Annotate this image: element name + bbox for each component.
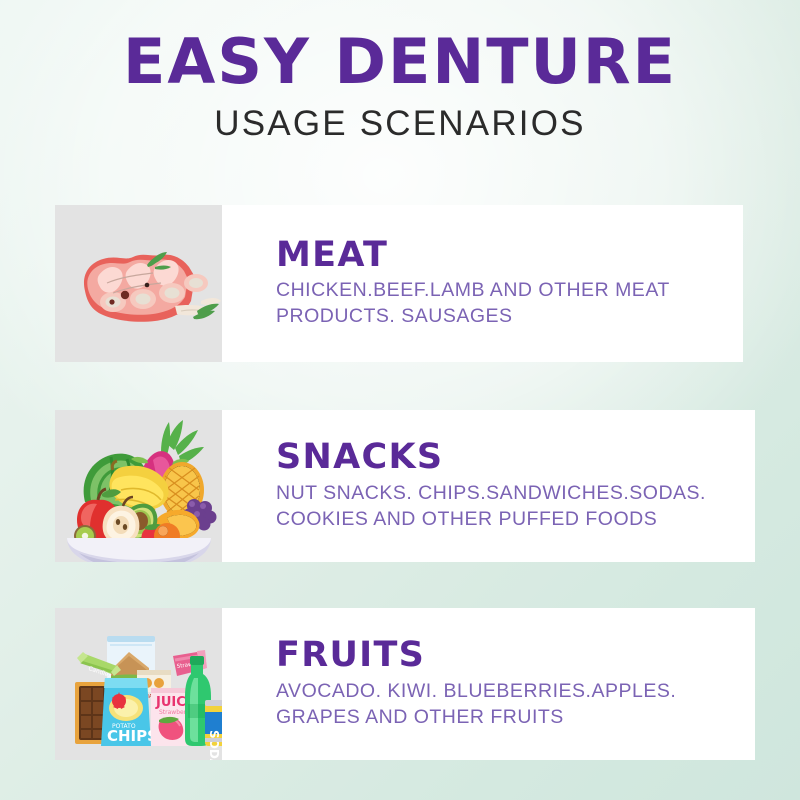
card-media-panel: Candies Strawberry SNACK xyxy=(55,608,222,760)
rack-of-ribs-icon xyxy=(55,205,222,362)
packaged-snacks-icon: Candies Strawberry SNACK xyxy=(55,608,222,760)
svg-text:SODA: SODA xyxy=(207,730,221,760)
card-heading: FRUITS xyxy=(276,637,755,674)
card-description: NUT SNACKS. CHIPS.SANDWICHES.SODAS. COOK… xyxy=(276,481,755,533)
page-subtitle: USAGE SCENARIOS xyxy=(0,93,800,141)
feature-card-fruits[interactable]: Candies Strawberry SNACK xyxy=(55,608,755,760)
card-media-panel xyxy=(55,410,222,562)
card-media-panel xyxy=(55,205,222,362)
card-description: CHICKEN.BEEF.LAMB AND OTHER MEAT PRODUCT… xyxy=(276,278,743,330)
card-text-panel: SNACKS NUT SNACKS. CHIPS.SANDWICHES.SODA… xyxy=(222,410,755,562)
card-heading: MEAT xyxy=(276,237,743,274)
poster-header: EASY DENTURE USAGE SCENARIOS xyxy=(0,0,800,141)
fruit-bowl-icon xyxy=(55,410,222,562)
poster-canvas: EASY DENTURE USAGE SCENARIOS xyxy=(0,0,800,800)
card-text-panel: MEAT CHICKEN.BEEF.LAMB AND OTHER MEAT PR… xyxy=(222,205,743,362)
card-description: AVOCADO. KIWI. BLUEBERRIES.APPLES. GRAPE… xyxy=(276,679,755,731)
card-text-panel: FRUITS AVOCADO. KIWI. BLUEBERRIES.APPLES… xyxy=(222,608,755,760)
card-heading: SNACKS xyxy=(276,439,755,476)
feature-card-meat[interactable]: MEAT CHICKEN.BEEF.LAMB AND OTHER MEAT PR… xyxy=(55,205,743,362)
page-title: EASY DENTURE xyxy=(0,0,800,93)
svg-text:CHIPS: CHIPS xyxy=(107,727,158,745)
feature-card-snacks[interactable]: SNACKS NUT SNACKS. CHIPS.SANDWICHES.SODA… xyxy=(55,410,755,562)
